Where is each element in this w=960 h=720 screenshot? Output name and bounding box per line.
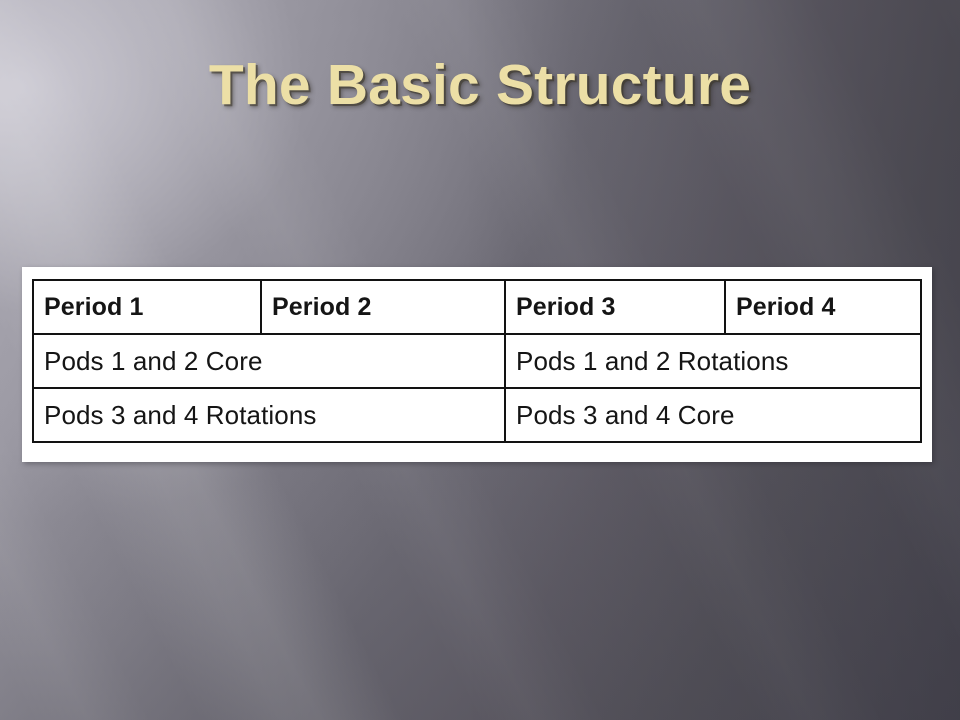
table-header-period-2: Period 2 [261,280,505,334]
table-header-period-1: Period 1 [33,280,261,334]
schedule-table: Period 1 Period 2 Period 3 Period 4 Pods… [32,279,922,443]
cell-row1-right: Pods 1 and 2 Rotations [505,334,921,388]
cell-row2-left: Pods 3 and 4 Rotations [33,388,505,442]
page-title: The Basic Structure [0,52,960,118]
cell-row1-left: Pods 1 and 2 Core [33,334,505,388]
schedule-table-card: Period 1 Period 2 Period 3 Period 4 Pods… [22,267,932,462]
table-row: Pods 3 and 4 Rotations Pods 3 and 4 Core [33,388,921,442]
cell-row2-right: Pods 3 and 4 Core [505,388,921,442]
table-row: Pods 1 and 2 Core Pods 1 and 2 Rotations [33,334,921,388]
table-header-period-4: Period 4 [725,280,921,334]
table-header-row: Period 1 Period 2 Period 3 Period 4 [33,280,921,334]
slide: The Basic Structure Period 1 Period 2 Pe… [0,0,960,720]
table-header-period-3: Period 3 [505,280,725,334]
